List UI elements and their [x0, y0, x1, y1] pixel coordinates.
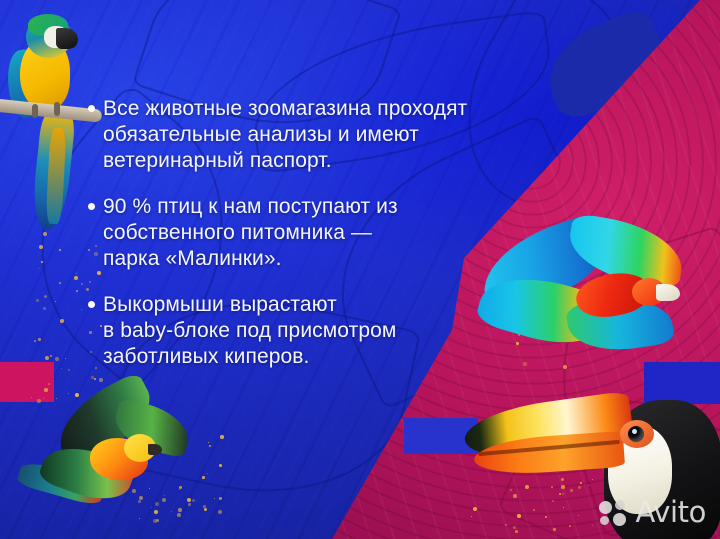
benefit-line: заботливых киперов. [103, 344, 518, 370]
conure-beak [148, 444, 162, 455]
benefit-line: 90 % птиц к нам поступают из [103, 194, 518, 220]
bullet-dot-icon [88, 105, 95, 112]
benefit-line: собственного питомника — [103, 220, 518, 246]
benefit-line: в baby-блоке под присмотром [103, 318, 518, 344]
benefit-line: обязательные анализы и имеют [103, 122, 518, 148]
avito-watermark: Avito [599, 498, 706, 527]
benefit-item-1-lines: Все животные зоомагазина проходят обязат… [88, 96, 518, 174]
toucan-eye-glint [632, 429, 637, 434]
macaw-foot [32, 104, 38, 118]
benefit-line: Выкормыши вырастают [103, 292, 518, 318]
macaw-beak [56, 28, 78, 49]
benefits-list: Все животные зоомагазина проходят обязат… [88, 96, 518, 370]
bullet-dot-icon [88, 301, 95, 308]
benefit-item-3-lines: Выкормыши вырастают в baby-блоке под при… [88, 292, 518, 370]
benefit-line: Все животные зоомагазина проходят [103, 96, 518, 122]
avito-logo-icon [599, 500, 629, 526]
benefit-item-2-lines: 90 % птиц к нам поступают из собственног… [88, 194, 518, 272]
toucan-eye [628, 426, 644, 442]
benefit-line: ветеринарный паспорт. [103, 148, 518, 174]
bullet-dot-icon [88, 203, 95, 210]
macaw-foot [54, 102, 60, 116]
avito-wordmark: Avito [636, 498, 706, 527]
promo-poster: Все животные зоомагазина проходят обязат… [0, 0, 720, 539]
conure-parrot-in-flight [18, 392, 202, 524]
benefit-item-1: Все животные зоомагазина проходят обязат… [88, 96, 518, 174]
benefit-line: парка «Малинки». [103, 246, 518, 272]
benefit-item-2: 90 % птиц к нам поступают из собственног… [88, 194, 518, 272]
benefit-item-3: Выкормыши вырастают в baby-блоке под при… [88, 292, 518, 370]
scarlet-beak [656, 284, 680, 301]
